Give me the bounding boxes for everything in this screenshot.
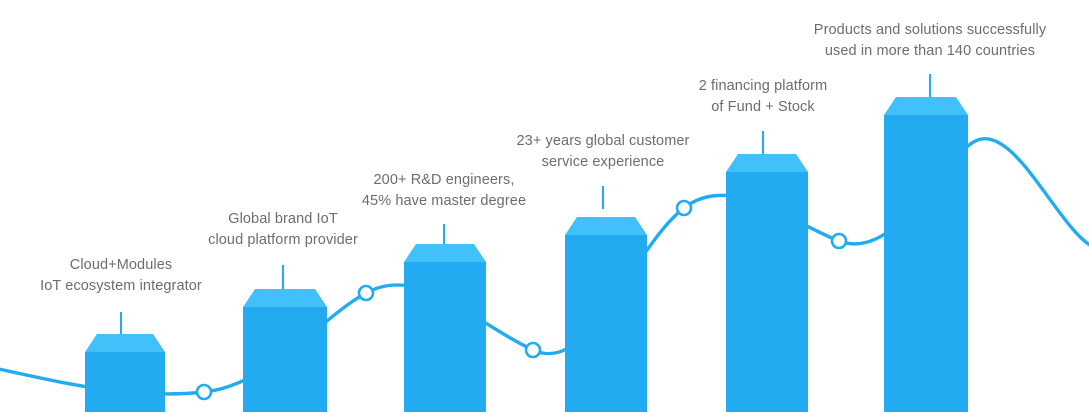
curve-marker-3 (526, 343, 540, 357)
callout-bar-4-line-2: service experience (59, 152, 1089, 173)
callout-bar-1: Cloud+Modules IoT ecosystem integrator (0, 255, 666, 297)
callout-bar-6: Products and solutions successfully used… (386, 20, 1089, 62)
callout-bar-2-line-2: cloud platform provider (0, 230, 828, 251)
bar-1-front-face (85, 352, 165, 412)
callout-bar-1-line-2: IoT ecosystem integrator (0, 276, 666, 297)
callout-bar-5-line-2: of Fund + Stock (219, 97, 1089, 118)
callout-bar-4: 23+ years global customer service experi… (59, 131, 1089, 173)
callout-bar-6-line-2: used in more than 140 countries (386, 41, 1089, 62)
curve-marker-1 (197, 385, 211, 399)
callout-bar-5: 2 financing platform of Fund + Stock (219, 76, 1089, 118)
callout-bar-3: 200+ R&D engineers, 45% have master degr… (0, 170, 989, 212)
infographic-root: Cloud+Modules IoT ecosystem integrator G… (0, 0, 1089, 412)
callout-bar-4-line-1: 23+ years global customer (59, 131, 1089, 152)
callout-bar-3-line-2: 45% have master degree (0, 191, 989, 212)
callout-bar-1-line-1: Cloud+Modules (0, 255, 666, 276)
bar-2-front-face (243, 307, 327, 412)
callout-bar-2-line-1: Global brand IoT (0, 209, 828, 230)
curve-marker-5 (832, 234, 846, 248)
callout-bar-2: Global brand IoT cloud platform provider (0, 209, 828, 251)
bar-1-top-face (85, 334, 165, 352)
callout-bar-3-line-1: 200+ R&D engineers, (0, 170, 989, 191)
bar-1 (85, 334, 165, 412)
bar-2 (243, 289, 327, 412)
callout-bar-6-line-1: Products and solutions successfully (386, 20, 1089, 41)
callout-bar-5-line-1: 2 financing platform (219, 76, 1089, 97)
